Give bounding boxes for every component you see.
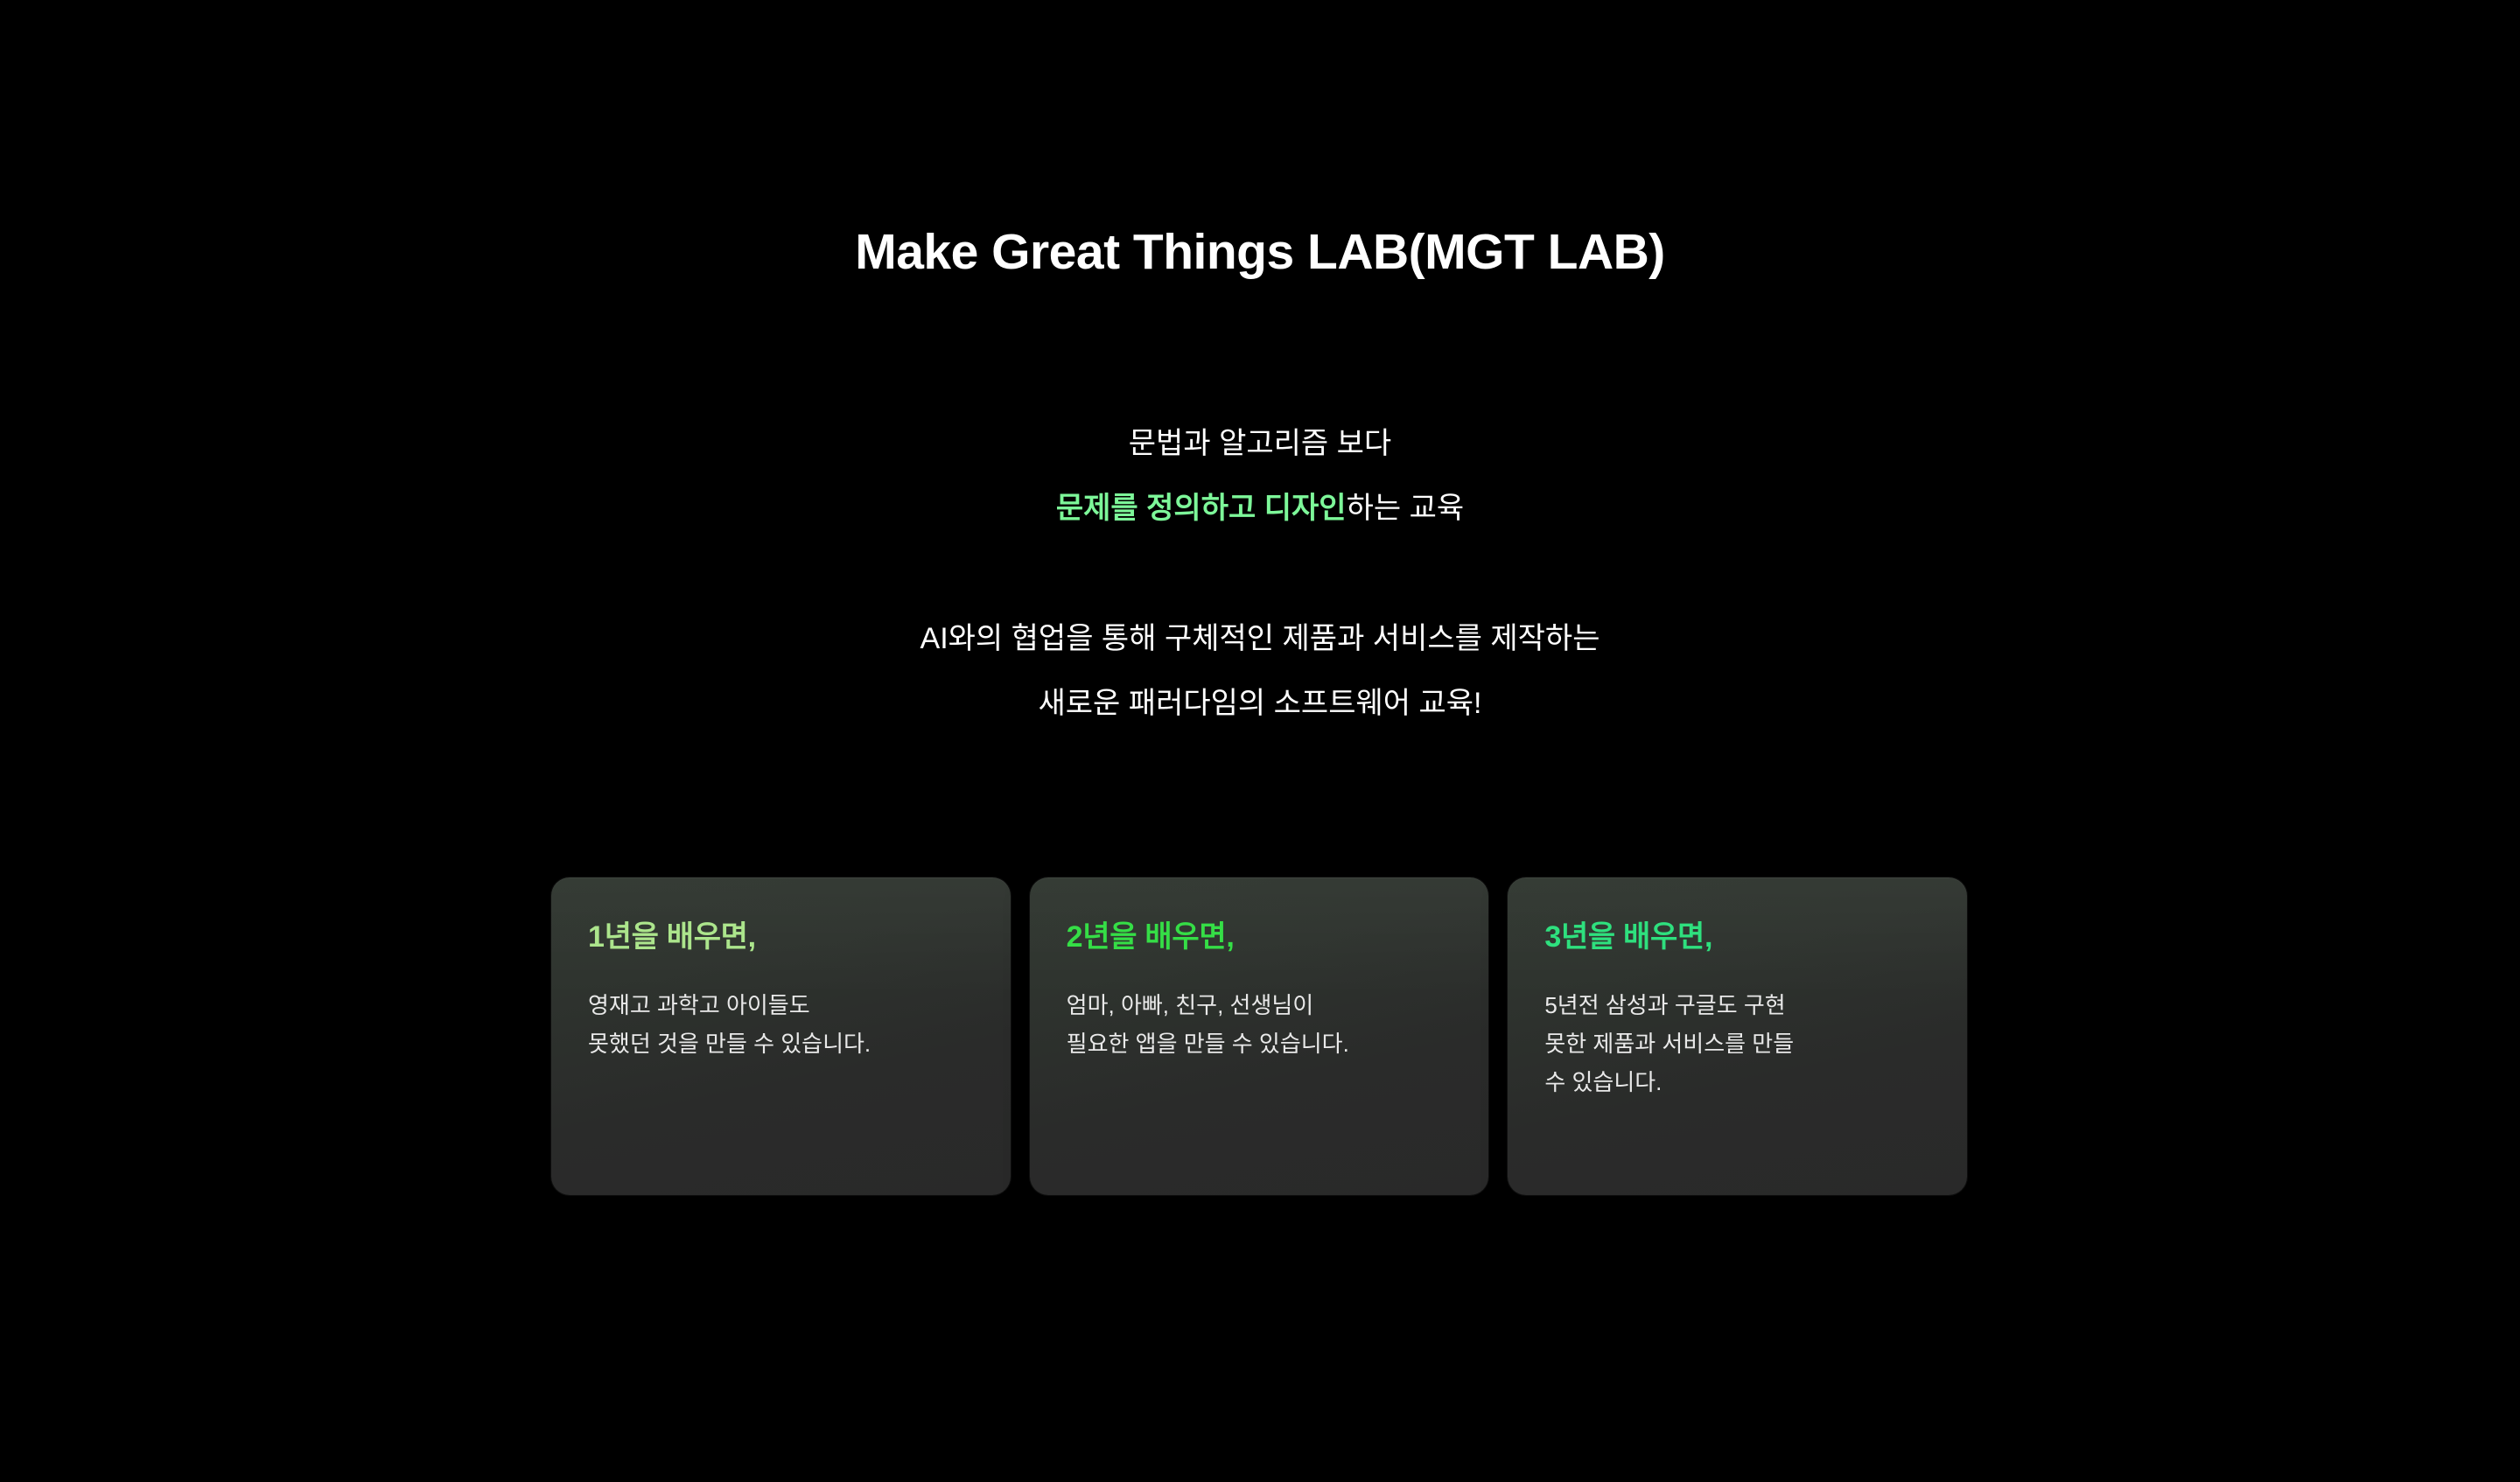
- description-line-1: AI와의 협업을 통해 구체적인 제품과 서비스를 제작하는: [0, 606, 2520, 671]
- benefit-card-body-line: 영재고 과학고 아이들도: [588, 986, 974, 1024]
- subtitle-accent-text: 문제를 정의하고 디자인: [1056, 492, 1347, 525]
- benefit-card-year-2[interactable]: 2년을 배우면, 엄마, 아빠, 친구, 선생님이 필요한 앱을 만들 수 있습…: [1030, 877, 1489, 1195]
- benefit-card-body-line: 못한 제품과 서비스를 만들: [1544, 1024, 1930, 1063]
- subtitle-line-2: 문제를 정의하고 디자인하는 교육: [0, 476, 2520, 541]
- description-line-2: 새로운 패러다임의 소프트웨어 교육!: [0, 671, 2520, 736]
- benefit-card-heading: 2년을 배우면,: [1067, 919, 1452, 955]
- benefit-card-body: 엄마, 아빠, 친구, 선생님이 필요한 앱을 만들 수 있습니다.: [1067, 986, 1452, 1063]
- benefit-card-body-line: 못했던 것을 만들 수 있습니다.: [588, 1024, 974, 1063]
- benefit-card-body-line: 엄마, 아빠, 친구, 선생님이: [1067, 986, 1452, 1024]
- page-title: Make Great Things LAB(MGT LAB): [0, 224, 2520, 282]
- benefit-card-body-line: 수 있습니다.: [1544, 1063, 1930, 1101]
- benefit-card-year-1[interactable]: 1년을 배우면, 영재고 과학고 아이들도 못했던 것을 만들 수 있습니다.: [551, 877, 1011, 1195]
- benefit-card-year-3[interactable]: 3년을 배우면, 5년전 삼성과 구글도 구현 못한 제품과 서비스를 만들 수…: [1508, 877, 1967, 1195]
- benefit-card-body: 5년전 삼성과 구글도 구현 못한 제품과 서비스를 만들 수 있습니다.: [1544, 986, 1930, 1101]
- landing-page: Make Great Things LAB(MGT LAB) 문법과 알고리즘 …: [0, 0, 2520, 1482]
- benefit-card-body: 영재고 과학고 아이들도 못했던 것을 만들 수 있습니다.: [588, 986, 974, 1063]
- subtitle-block: 문법과 알고리즘 보다 문제를 정의하고 디자인하는 교육: [0, 411, 2520, 541]
- subtitle-tail-text: 하는 교육: [1347, 492, 1465, 525]
- subtitle-line-1: 문법과 알고리즘 보다: [0, 411, 2520, 476]
- benefit-card-body-line: 필요한 앱을 만들 수 있습니다.: [1067, 1024, 1452, 1063]
- benefit-card-heading: 1년을 배우면,: [588, 919, 974, 955]
- benefit-card-heading: 3년을 배우면,: [1544, 919, 1930, 955]
- benefit-card-body-line: 5년전 삼성과 구글도 구현: [1544, 986, 1930, 1024]
- description-block: AI와의 협업을 통해 구체적인 제품과 서비스를 제작하는 새로운 패러다임의…: [0, 606, 2520, 736]
- benefit-cards-row: 1년을 배우면, 영재고 과학고 아이들도 못했던 것을 만들 수 있습니다. …: [551, 877, 1967, 1195]
